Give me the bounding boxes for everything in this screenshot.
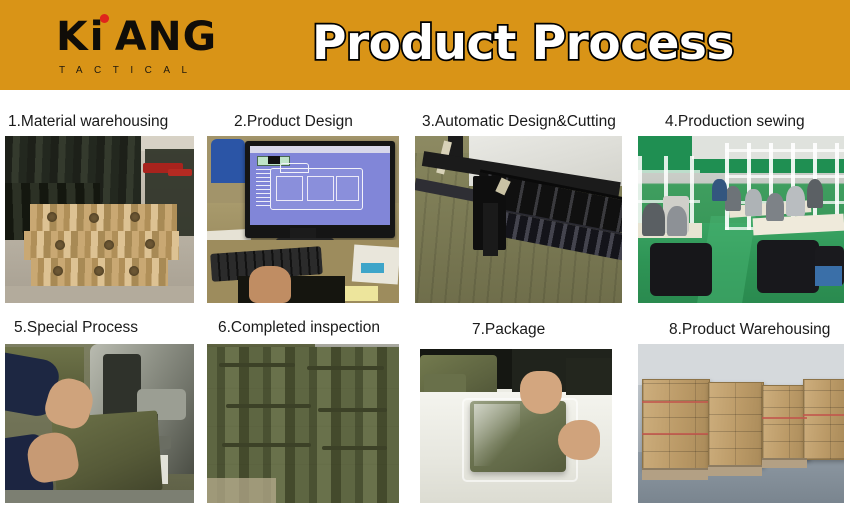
step-5: 5.Special Process — [14, 318, 138, 337]
step-8: 8.Product Warehousing — [669, 320, 830, 339]
cad-design-monitor-photo[interactable] — [207, 136, 399, 303]
packaging-photo[interactable] — [420, 349, 612, 503]
logo-text-ang: ANG — [115, 14, 217, 60]
sewing-production-line-photo[interactable] — [638, 136, 844, 303]
special-process-sewing-photo[interactable] — [5, 344, 194, 503]
automatic-cutting-machine-photo[interactable] — [415, 136, 622, 303]
brand-logo[interactable]: KiANG TACTICAL — [56, 16, 266, 78]
logo-tagline: TACTICAL — [59, 65, 266, 76]
step-3-label: 3.Automatic Design&Cutting — [422, 112, 616, 131]
step-1: 1.Material warehousing — [8, 112, 168, 131]
step-6: 6.Completed inspection — [218, 318, 380, 337]
page-title: Product Process — [312, 13, 772, 75]
step-7: 7.Package — [472, 320, 545, 339]
logo-text-ki: Ki — [56, 14, 106, 60]
step-5-label: 5.Special Process — [14, 318, 138, 337]
step-2: 2.Product Design — [234, 112, 353, 131]
step-4-label: 4.Production sewing — [665, 112, 805, 131]
completed-inspection-photo[interactable] — [207, 344, 399, 503]
step-6-label: 6.Completed inspection — [218, 318, 380, 337]
step-7-label: 7.Package — [472, 320, 545, 339]
product-warehouse-photo[interactable] — [638, 344, 844, 503]
step-1-label: 1.Material warehousing — [8, 112, 168, 131]
step-4: 4.Production sewing — [665, 112, 805, 131]
page-header: KiANG TACTICAL Product Process — [0, 0, 850, 90]
fabric-roll-warehouse-photo[interactable] — [5, 136, 194, 303]
logo-red-dot-icon — [100, 14, 109, 23]
step-8-label: 8.Product Warehousing — [669, 320, 830, 339]
step-2-label: 2.Product Design — [234, 112, 353, 131]
logo-wordmark: KiANG — [56, 16, 270, 58]
step-3: 3.Automatic Design&Cutting — [422, 112, 616, 131]
